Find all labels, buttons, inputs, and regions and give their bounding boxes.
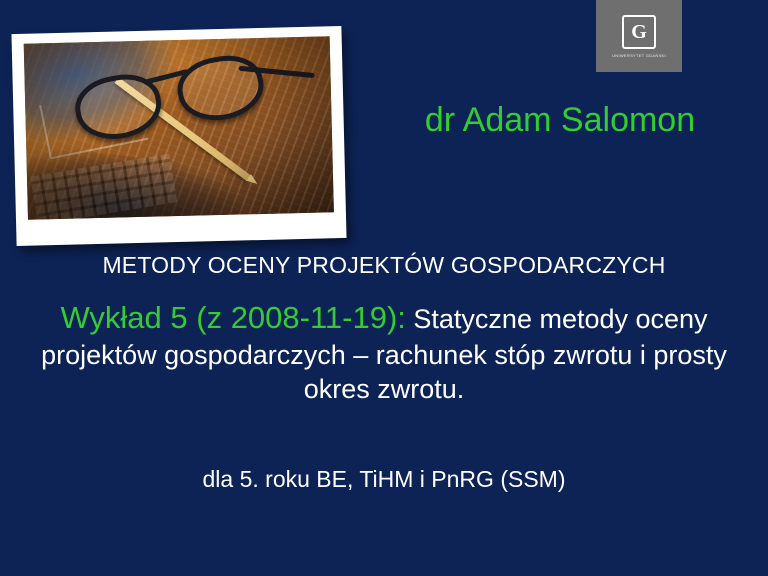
university-logo: G UNIWERSYTET GDAŃSKI [596, 0, 682, 72]
title-photo-frame [11, 26, 346, 246]
lecture-title: Wykład 5 (z 2008-11-19): Statyczne metod… [18, 298, 750, 407]
lecture-number-and-date: Wykład 5 (z 2008-11-19): [60, 300, 405, 335]
title-photo [24, 36, 334, 219]
author-name: dr Adam Salomon [370, 102, 750, 139]
university-logo-caption: UNIWERSYTET GDAŃSKI [612, 53, 666, 58]
course-title: METODY OCENY PROJEKTÓW GOSPODARCZYCH [24, 252, 744, 279]
university-crest-icon: G [622, 15, 656, 49]
audience-line: dla 5. roku BE, TiHM i PnRG (SSM) [24, 466, 744, 493]
presentation-slide: G UNIWERSYTET GDAŃSKI dr Adam Salomon ME… [0, 0, 768, 576]
photo-vignette [24, 36, 334, 219]
